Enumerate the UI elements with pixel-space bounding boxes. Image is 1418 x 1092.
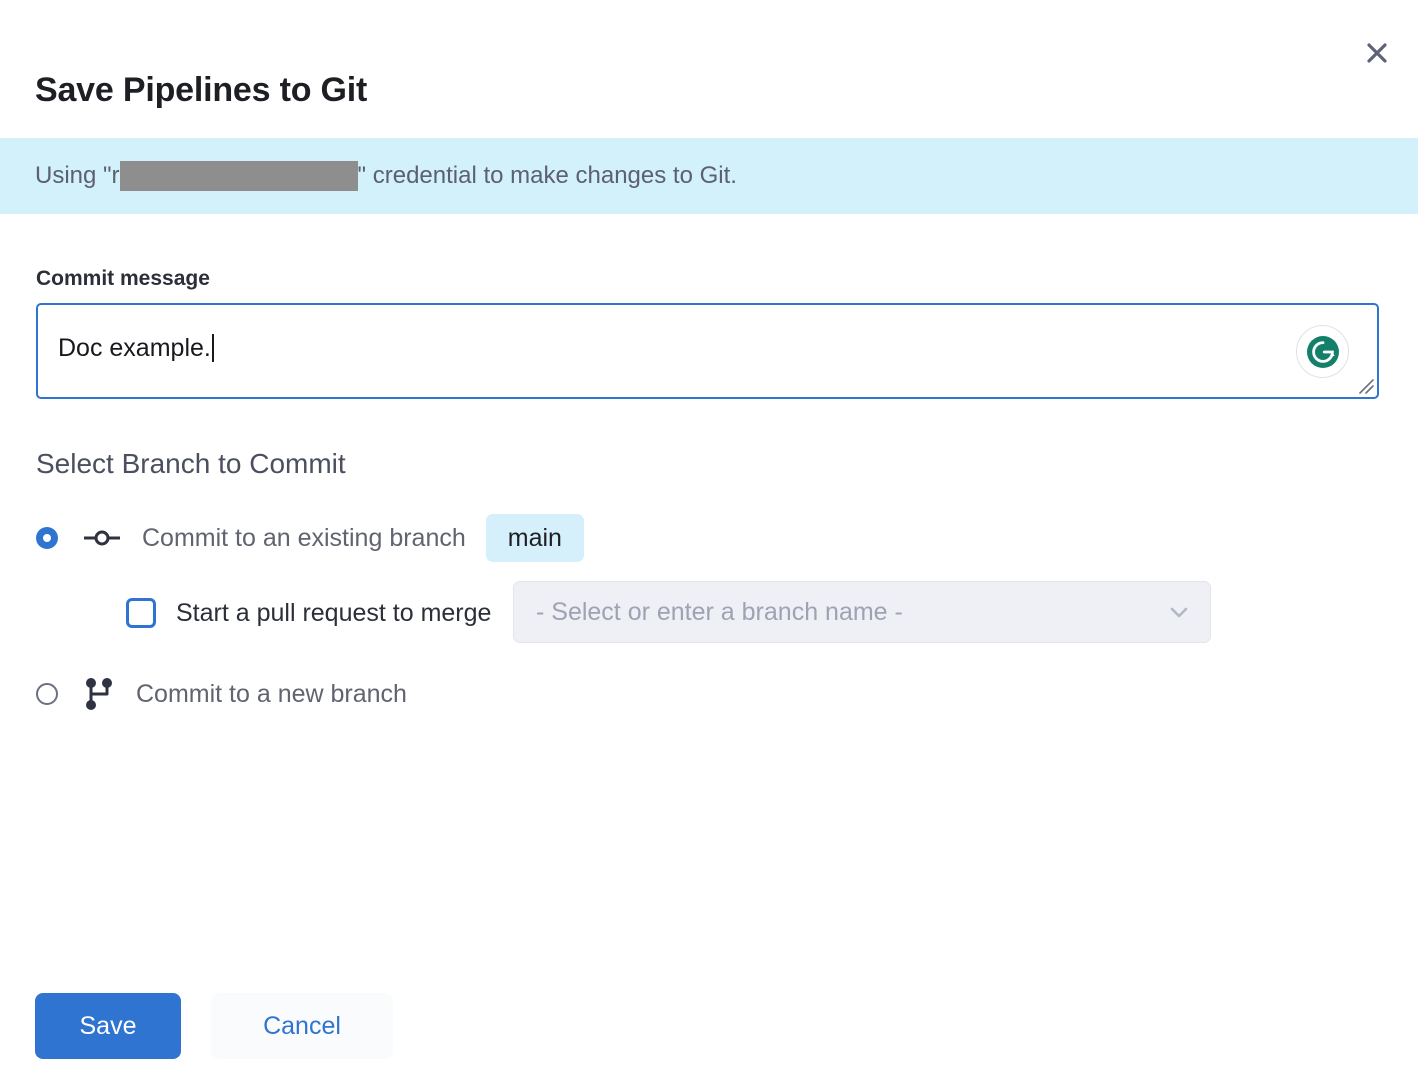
current-branch-badge[interactable]: main [486, 514, 584, 562]
commit-message-value-wrapper: Doc example. [58, 332, 214, 364]
radio-existing-branch[interactable] [36, 527, 58, 549]
close-dialog-button[interactable] [1354, 30, 1400, 76]
credential-text-after: " credential to make changes to Git. [358, 160, 737, 192]
radio-row-existing-branch[interactable]: Commit to an existing branch main [36, 518, 584, 558]
git-branch-icon [84, 677, 114, 711]
pull-request-branch-placeholder: - Select or enter a branch name - [536, 596, 1166, 628]
commit-message-input[interactable]: Doc example. [36, 303, 1379, 399]
save-pipelines-dialog: Save Pipelines to Git Using "r" credenti… [0, 0, 1418, 1092]
dialog-title: Save Pipelines to Git [35, 68, 367, 112]
git-commit-icon [84, 527, 120, 549]
commit-message-value: Doc example. [58, 334, 211, 362]
close-icon [1364, 40, 1390, 66]
textarea-resize-handle[interactable] [1356, 376, 1374, 394]
pull-request-checkbox[interactable] [126, 598, 156, 628]
redacted-credential-name [120, 161, 358, 191]
credential-text-before: Using "r [35, 160, 120, 192]
new-branch-label: Commit to a new branch [136, 678, 407, 710]
pull-request-label: Start a pull request to merge [176, 597, 491, 629]
branch-section-heading: Select Branch to Commit [36, 446, 346, 482]
credential-info-text: Using "r" credential to make changes to … [35, 160, 737, 192]
radio-row-new-branch[interactable]: Commit to a new branch [36, 674, 407, 714]
dialog-footer: Save Cancel [35, 993, 393, 1059]
pull-request-branch-select[interactable]: - Select or enter a branch name - [513, 581, 1211, 643]
radio-new-branch[interactable] [36, 683, 58, 705]
grammarly-icon[interactable] [1296, 325, 1349, 378]
chevron-down-icon [1166, 599, 1192, 625]
pull-request-row[interactable]: Start a pull request to merge [126, 582, 491, 644]
commit-message-label: Commit message [36, 265, 210, 293]
existing-branch-label: Commit to an existing branch [142, 522, 466, 554]
text-caret [212, 334, 214, 362]
credential-info-banner: Using "r" credential to make changes to … [0, 138, 1418, 214]
cancel-button[interactable]: Cancel [211, 993, 393, 1059]
save-button[interactable]: Save [35, 993, 181, 1059]
